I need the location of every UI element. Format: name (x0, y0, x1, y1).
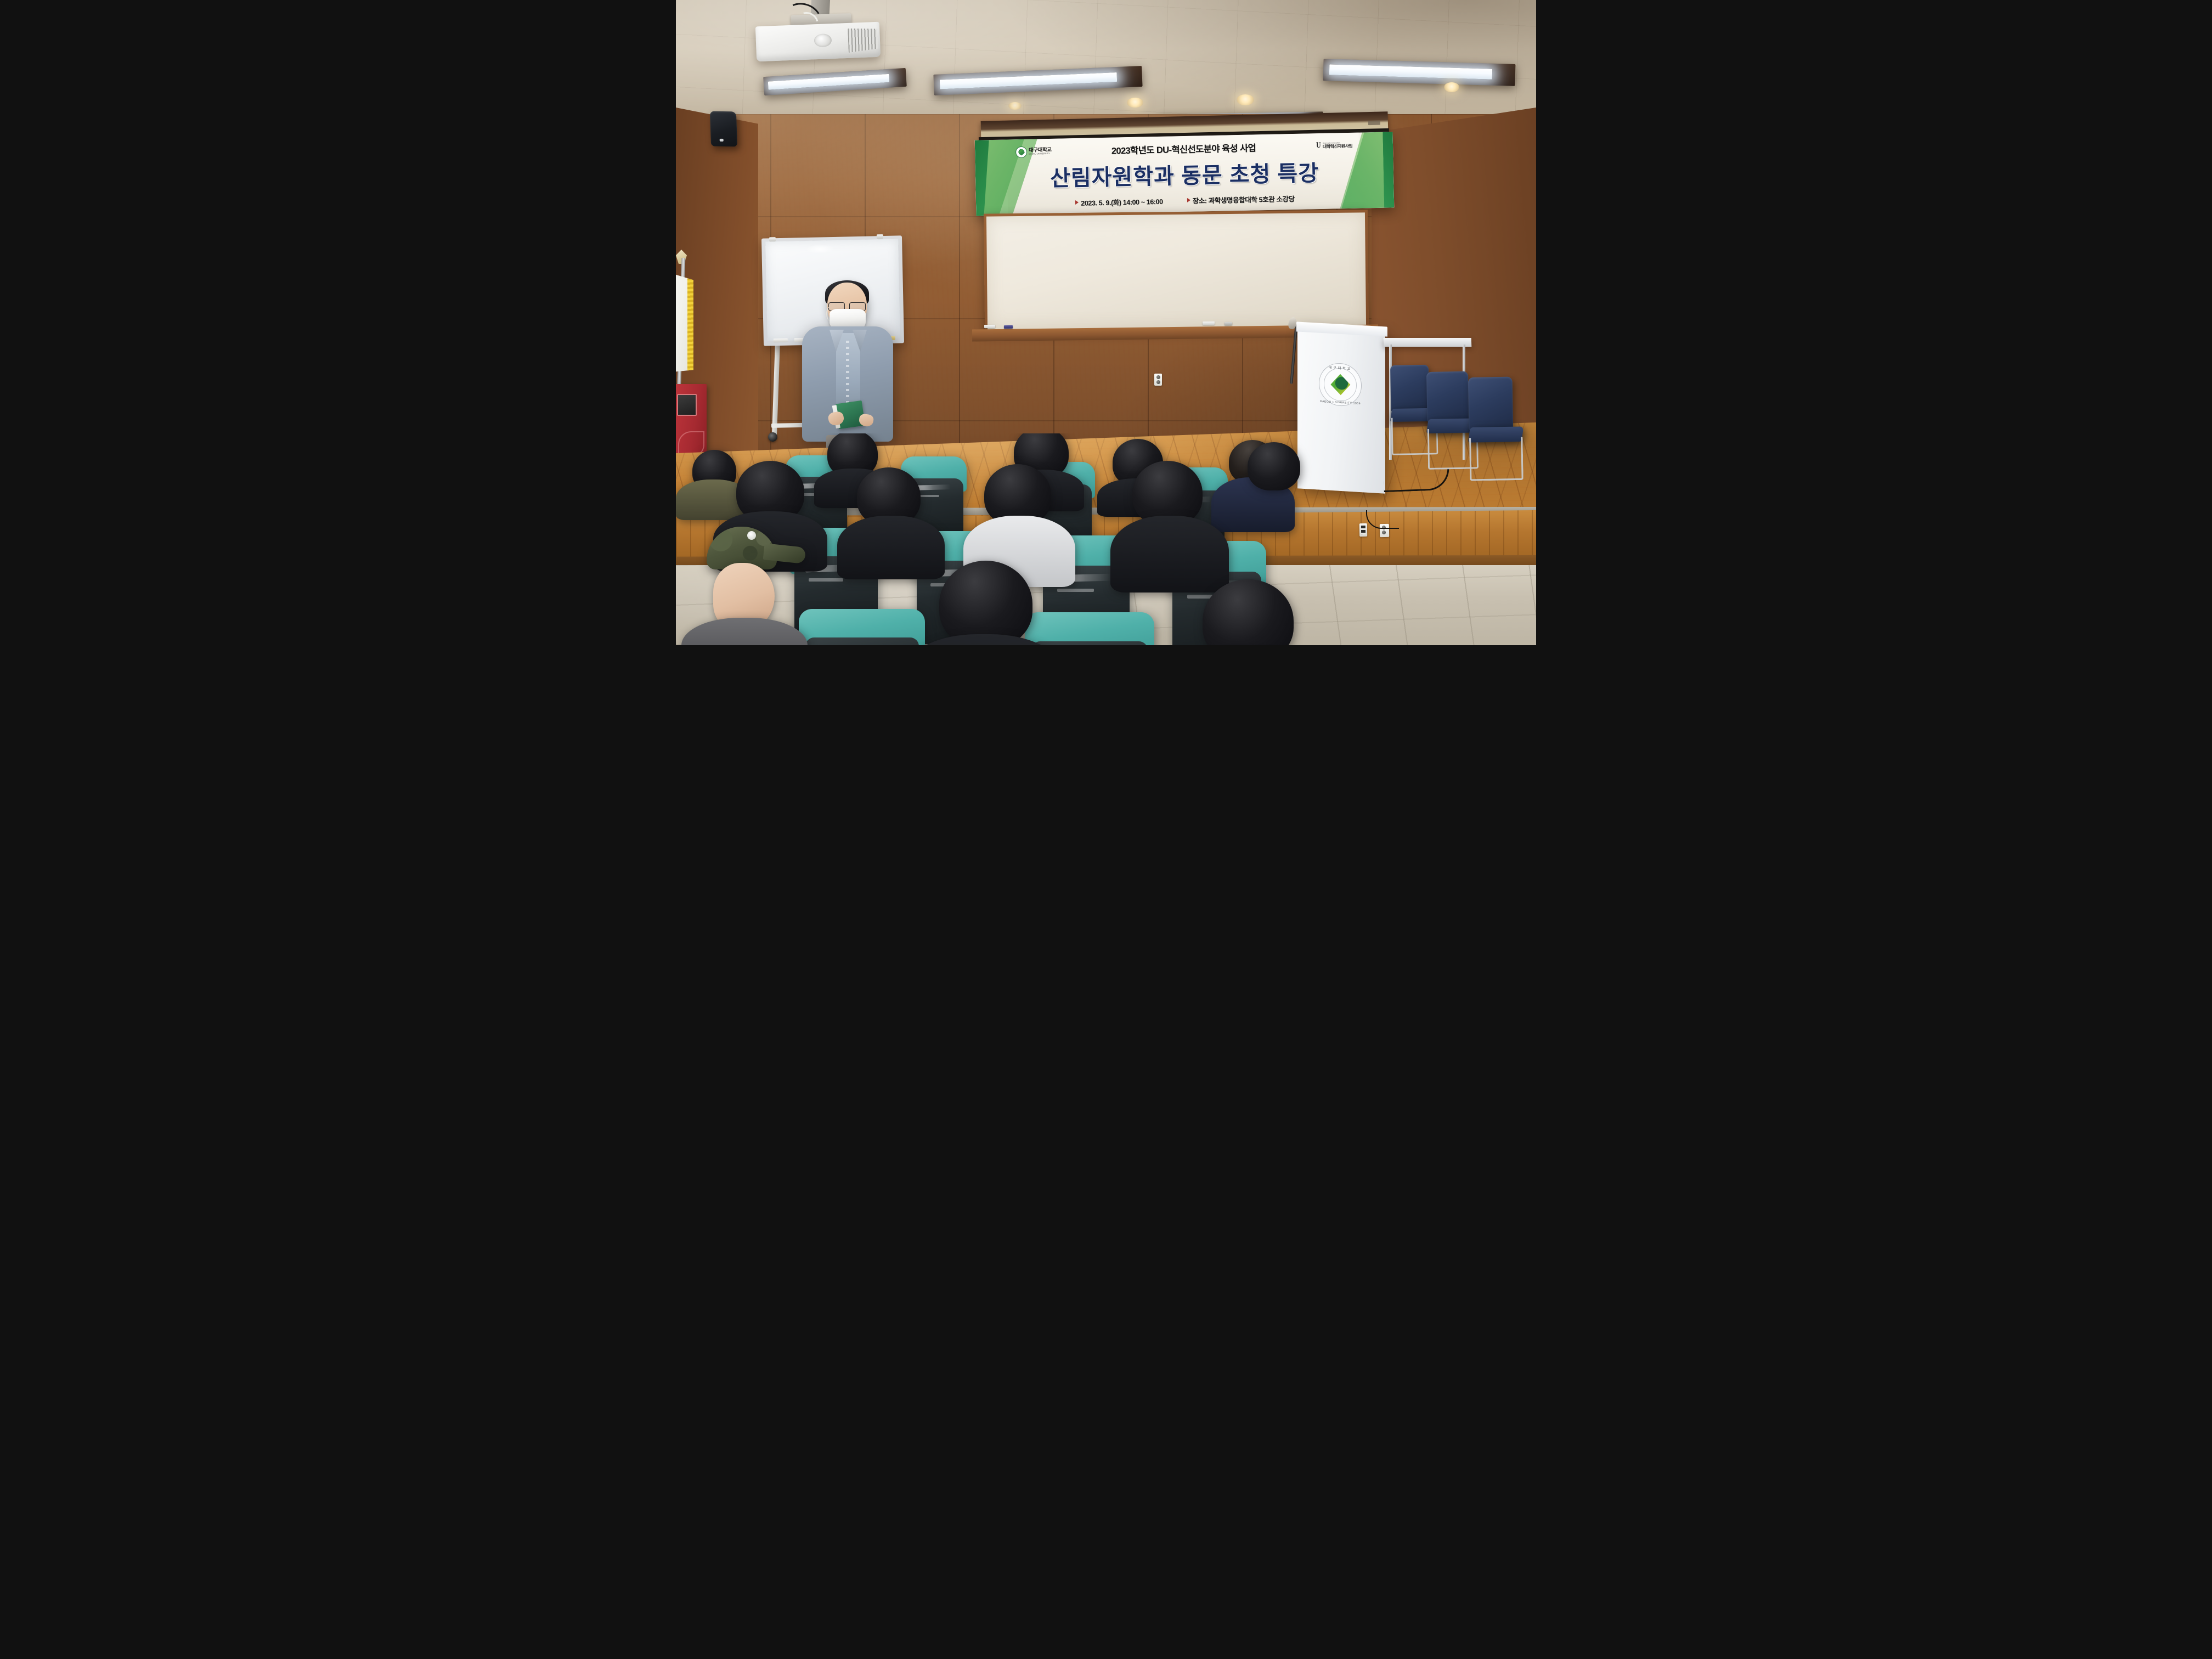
audience-seating (676, 433, 1536, 645)
cap-emblem (747, 531, 756, 540)
banner-venue-text: 장소: 과학생명융합대학 5호관 소강당 (1192, 193, 1294, 205)
marker-pen (1203, 321, 1215, 325)
wall-outlet-icon (1154, 374, 1162, 386)
auditorium-seat (1025, 612, 1154, 645)
banner-detail-venue: 장소: 과학생명융합대학 5호관 소강당 (1187, 193, 1294, 205)
daegu-university-diamond-mark (1015, 146, 1027, 157)
daegu-university-logo: 대구대학교 DAEGU UNIVERSITY (1015, 145, 1052, 157)
marker-pen (1004, 325, 1013, 329)
audience-shoulders (681, 618, 808, 645)
projection-screen-surface (986, 212, 1366, 329)
audience-head (939, 561, 1032, 645)
side-table (1384, 338, 1472, 347)
whiteboard-clip (877, 234, 883, 239)
banner-detail-date: 2023. 5. 9.(화) 14:00 ~ 16:00 (1075, 195, 1163, 207)
korean-national-flag-icon (676, 267, 693, 374)
triangle-bullet-icon (1187, 198, 1190, 202)
recessed-downlight (1008, 102, 1022, 110)
projection-screen (984, 210, 1369, 332)
daegu-university-name-en: DAEGU UNIVERSITY (1029, 153, 1052, 155)
presenter (802, 283, 893, 458)
recessed-downlight (1127, 98, 1143, 108)
u-letter-mark-icon: U (1316, 142, 1321, 150)
lecture-hall-photo: 대구대학교 DAEGU UNIVERSITY 2023학년도 DU-혁신선도분야… (676, 0, 1536, 645)
whiteboard-eraser (774, 338, 788, 343)
audience-shoulders (1110, 516, 1229, 592)
audience-head (1248, 442, 1300, 490)
recessed-downlight (1237, 94, 1254, 105)
audience-shoulders (837, 516, 945, 579)
daegu-university-seal-icon: 대구대학교 DAEGU UNIVERSITY 1956 (1319, 362, 1362, 407)
marker-pen (1224, 322, 1232, 325)
auditorium-seat (799, 609, 925, 645)
university-innovation-logo: U University Innovation 대학혁신지원사업 (1316, 142, 1352, 150)
banner-title: 산림자원학과 동문 초청 특강 (1007, 153, 1362, 196)
innovation-name-kr: 대학혁신지원사업 (1323, 144, 1352, 149)
banner-date-text: 2023. 5. 9.(화) 14:00 ~ 16:00 (1081, 195, 1163, 207)
recessed-downlight (1444, 82, 1459, 92)
wall-speaker-icon (710, 111, 737, 147)
marker-pen (984, 325, 995, 328)
whiteboard-clip (769, 237, 776, 241)
event-banner: 대구대학교 DAEGU UNIVERSITY 2023학년도 DU-혁신선도분야… (975, 132, 1395, 216)
triangle-bullet-icon (1075, 200, 1079, 205)
